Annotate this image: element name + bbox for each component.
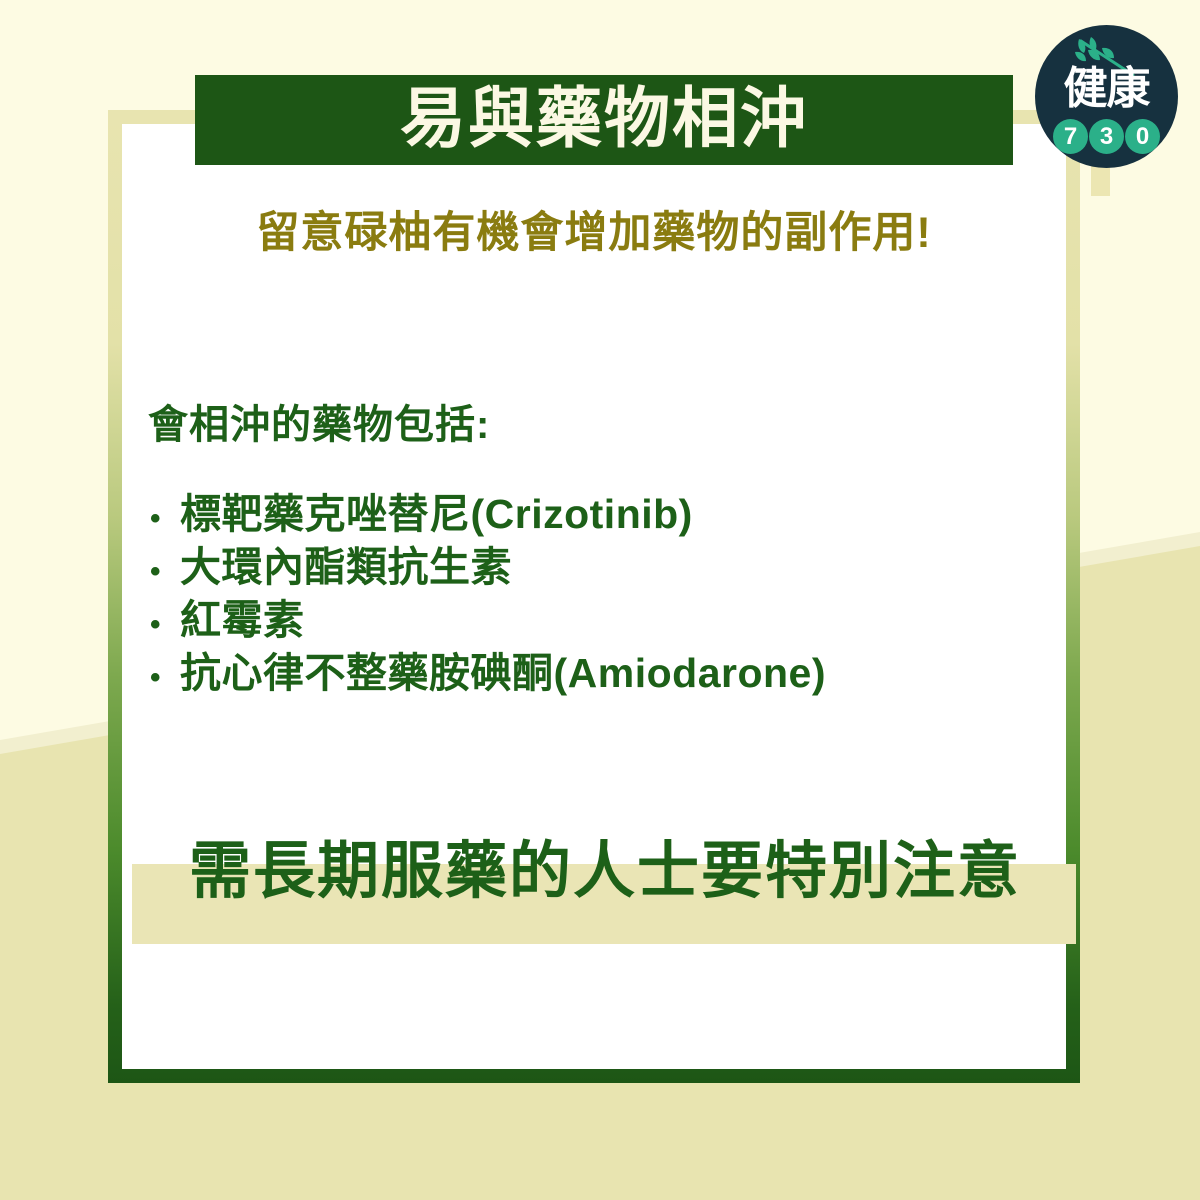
list-item-label: 抗心律不整藥胺碘酮(Amiodarone)	[180, 649, 826, 698]
subtitle-text: 留意碌柚有機會增加藥物的副作用!	[108, 198, 1080, 260]
title-banner: 易與藥物相沖	[195, 75, 1013, 165]
highlight-text: 需長期服藥的人士要特別注意	[130, 836, 1080, 907]
list-lead-label: 會相沖的藥物包括:	[148, 392, 490, 450]
logo-digit: 7	[1053, 119, 1088, 154]
logo-number-group: 7 3 0	[1035, 119, 1178, 154]
list-item: • 大環內酯類抗生素	[150, 543, 826, 596]
logo-digit: 0	[1125, 119, 1160, 154]
list-item-label: 標靶藥克唑替尼(Crizotinib)	[180, 490, 693, 539]
list-item: • 抗心律不整藥胺碘酮(Amiodarone)	[150, 649, 826, 702]
brand-logo: 健康 7 3 0	[1035, 25, 1178, 168]
list-item-label: 大環內酯類抗生素	[180, 543, 512, 592]
bullet-dot-icon: •	[150, 494, 180, 543]
bullet-dot-icon: •	[150, 653, 180, 702]
bullet-dot-icon: •	[150, 547, 180, 596]
poster-canvas: 易與藥物相沖 留意碌柚有機會增加藥物的副作用! 會相沖的藥物包括: • 標靶藥克…	[0, 0, 1200, 1200]
list-item: • 標靶藥克唑替尼(Crizotinib)	[150, 490, 826, 543]
logo-wordmark: 健康	[1035, 67, 1178, 111]
page-title: 易與藥物相沖	[400, 85, 808, 151]
drug-list: • 標靶藥克唑替尼(Crizotinib) • 大環內酯類抗生素 • 紅霉素 •…	[150, 490, 826, 702]
list-item: • 紅霉素	[150, 596, 826, 649]
logo-digit: 3	[1089, 119, 1124, 154]
bullet-dot-icon: •	[150, 600, 180, 649]
list-item-label: 紅霉素	[180, 596, 305, 645]
